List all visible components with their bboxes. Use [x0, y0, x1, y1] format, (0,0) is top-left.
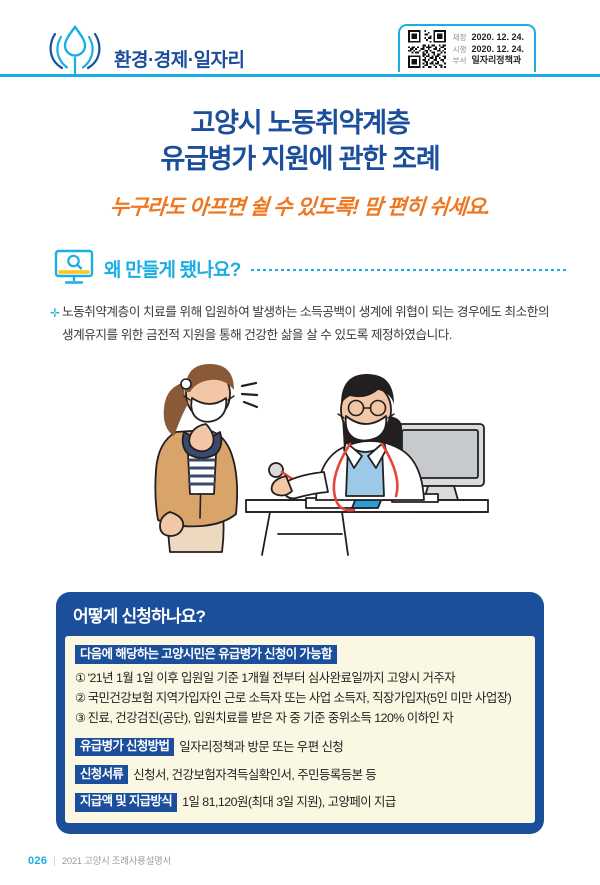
title-line-2: 유급병가 지원에 관한 조례: [0, 142, 600, 178]
payment-amount-label: 지급액 및 지급방식: [75, 793, 177, 812]
title-line-1: 고양시 노동취약계층: [0, 106, 600, 142]
list-item: ③진료, 건강검진(공단), 입원치료를 받은 자 중 기준 중위소득 120%…: [75, 709, 525, 728]
stamp-rows: 제정 2020. 12. 24. 시행 2020. 12. 24. 부서 일자리…: [453, 32, 524, 65]
section-dotted-rule: [251, 269, 566, 271]
stamp-row: 부서 일자리정책과: [453, 55, 524, 65]
required-documents-row: 신청서류신청서, 건강보험자격득실확인서, 주민등록등본 등: [75, 765, 525, 784]
stamp-row: 시행 2020. 12. 24.: [453, 44, 524, 54]
callout-heading: 어떻게 신청하나요?: [65, 601, 535, 636]
section-heading: 왜 만들게 됐나요?: [104, 255, 241, 282]
stamp-key: 제정: [453, 34, 467, 42]
payment-amount-row: 지급액 및 지급방식1일 81,120원(최대 3일 지원), 고양페이 지급: [75, 793, 525, 812]
page-title: 고양시 노동취약계층 유급병가 지원에 관한 조례: [0, 106, 600, 177]
list-item-number: ②: [75, 691, 86, 705]
page-number: 026: [28, 855, 47, 867]
list-item-text: 진료, 건강검진(공단), 입원치료를 받은 자 중 기준 중위소득 120% …: [88, 711, 454, 725]
plus-bullet-icon: ✛: [50, 303, 60, 324]
handwritten-tagline: 누구라도 아프면 쉴 수 있도록! 맘 편히 쉬세요.: [0, 191, 600, 221]
brand-label: 환경·경제·일자리: [114, 45, 245, 78]
list-item-number: ①: [75, 671, 86, 685]
ordinance-stamp-badge: 제정 2020. 12. 24. 시행 2020. 12. 24. 부서 일자리…: [398, 24, 536, 72]
list-item: ①'21년 1월 1일 이후 입원일 기준 1개월 전부터 심사완료일까지 고양…: [75, 669, 525, 688]
payment-amount-value: 1일 81,120원(최대 3일 지원), 고양페이 지급: [182, 795, 396, 809]
patient-and-doctor-consultation-illustration: [0, 352, 600, 557]
required-documents-value: 신청서, 건강보험자격득실확인서, 주민등록등본 등: [133, 768, 376, 782]
apply-method-value: 일자리정책과 방문 또는 우편 신청: [179, 740, 343, 754]
callout-content-panel: 다음에 해당하는 고양시민은 유급병가 신청이 가능함 ①'21년 1월 1일 …: [65, 636, 535, 823]
section-body-paragraph: ✛ 노동취약계층이 치료를 위해 입원하여 발생하는 소득공백이 생계에 위협이…: [62, 301, 554, 346]
list-item-number: ③: [75, 711, 86, 725]
stamp-row: 제정 2020. 12. 24.: [453, 32, 524, 42]
page-footer: 026 | 2021 고양시 조례사용설명서: [28, 853, 171, 867]
apply-method-row: 유급병가 신청방법일자리정책과 방문 또는 우편 신청: [75, 738, 525, 757]
qr-code-icon: [408, 30, 446, 68]
stamp-value: 2020. 12. 24.: [471, 32, 524, 42]
footer-title: 2021 고양시 조례사용설명서: [62, 853, 171, 867]
hands-water-drop-logo-icon: [42, 22, 108, 78]
stamp-key: 시행: [453, 46, 467, 54]
required-documents-label: 신청서류: [75, 765, 128, 784]
list-item-text: '21년 1월 1일 이후 입원일 기준 1개월 전부터 심사완료일까지 고양시…: [88, 671, 456, 685]
monitor-search-icon: [54, 249, 94, 287]
footer-separator: |: [53, 856, 56, 867]
stamp-key: 부서: [453, 57, 467, 65]
eligibility-tag: 다음에 해당하는 고양시민은 유급병가 신청이 가능함: [75, 645, 337, 664]
section-why-header: 왜 만들게 됐나요?: [0, 249, 600, 287]
stamp-value: 2020. 12. 24.: [471, 44, 524, 54]
brand-lockup: 환경·경제·일자리: [42, 22, 245, 78]
stamp-value: 일자리정책과: [471, 55, 521, 65]
page-header: 환경·경제·일자리: [0, 0, 600, 92]
how-to-apply-callout: 어떻게 신청하나요? 다음에 해당하는 고양시민은 유급병가 신청이 가능함 ①…: [56, 592, 544, 834]
apply-method-label: 유급병가 신청방법: [75, 738, 174, 757]
section-body-text: 노동취약계층이 치료를 위해 입원하여 발생하는 소득공백이 생계에 위협이 되…: [62, 305, 549, 341]
list-item: ②국민건강보험 지역가입자인 근로 소득자 또는 사업 소득자, 직장가입자(5…: [75, 689, 525, 708]
eligibility-list: ①'21년 1월 1일 이후 입원일 기준 1개월 전부터 심사완료일까지 고양…: [75, 669, 525, 729]
list-item-text: 국민건강보험 지역가입자인 근로 소득자 또는 사업 소득자, 직장가입자(5인…: [88, 691, 512, 705]
